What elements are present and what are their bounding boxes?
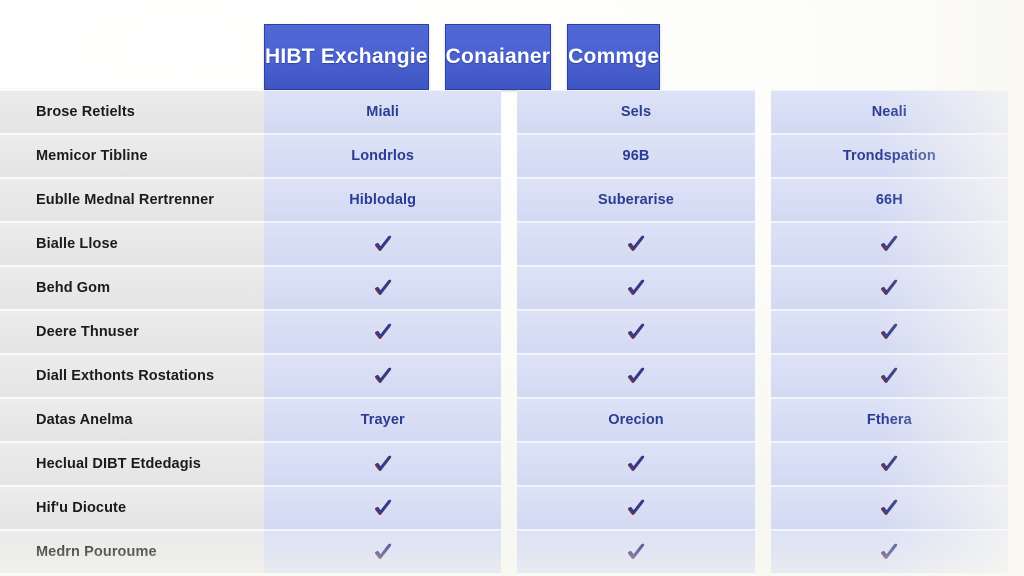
cell-value: 96B bbox=[517, 134, 754, 178]
cell-supported bbox=[264, 222, 501, 266]
cell-value: Sels bbox=[517, 90, 754, 134]
cell-value: Neali bbox=[771, 90, 1008, 134]
checkmark-icon bbox=[372, 321, 394, 343]
table-row: Bialle Llose bbox=[0, 222, 1024, 266]
checkmark-icon bbox=[625, 497, 647, 519]
table-row: Memicor TiblineLondrlos96BTrondspation bbox=[0, 134, 1024, 178]
column-header-c3[interactable]: Commge bbox=[567, 24, 660, 90]
table-row: Brose RetieltsMialiSelsNeali bbox=[0, 90, 1024, 134]
feature-label: Deere Thnuser bbox=[0, 310, 264, 354]
cell-supported bbox=[264, 530, 501, 574]
checkmark-icon bbox=[878, 277, 900, 299]
cell-value: Miali bbox=[264, 90, 501, 134]
checkmark-icon bbox=[625, 541, 647, 563]
checkmark-icon bbox=[878, 541, 900, 563]
feature-label: Datas Anelma bbox=[0, 398, 264, 442]
cell-value: Fthera bbox=[771, 398, 1008, 442]
checkmark-icon bbox=[878, 233, 900, 255]
feature-comparison-table: HIBT ExchangieConaianerCommgeBrose Retie… bbox=[0, 0, 1024, 574]
cell-value: Orecion bbox=[517, 398, 754, 442]
table-row: Behd Gom bbox=[0, 266, 1024, 310]
checkmark-icon bbox=[372, 233, 394, 255]
cell-supported bbox=[517, 486, 754, 530]
cell-supported bbox=[517, 530, 754, 574]
feature-label: Hif'u Diocute bbox=[0, 486, 264, 530]
cell-supported bbox=[771, 530, 1008, 574]
cell-value: Suberarise bbox=[517, 178, 754, 222]
feature-label: Diall Exthonts Rostations bbox=[0, 354, 264, 398]
feature-label: Eublle Mednal Rertrenner bbox=[0, 178, 264, 222]
checkmark-icon bbox=[625, 233, 647, 255]
cell-value: Trondspation bbox=[771, 134, 1008, 178]
cell-value: 66H bbox=[771, 178, 1008, 222]
cell-value: Hiblodalg bbox=[264, 178, 501, 222]
column-header-c2[interactable]: Conaianer bbox=[445, 24, 552, 90]
feature-label: Brose Retielts bbox=[0, 90, 264, 134]
checkmark-icon bbox=[372, 541, 394, 563]
cell-supported bbox=[264, 310, 501, 354]
checkmark-icon bbox=[878, 453, 900, 475]
table-row: Medrn Pouroume bbox=[0, 530, 1024, 574]
cell-supported bbox=[771, 310, 1008, 354]
checkmark-icon bbox=[625, 365, 647, 387]
checkmark-icon bbox=[878, 321, 900, 343]
cell-supported bbox=[771, 222, 1008, 266]
checkmark-icon bbox=[372, 365, 394, 387]
cell-supported bbox=[771, 442, 1008, 486]
checkmark-icon bbox=[625, 453, 647, 475]
checkmark-icon bbox=[372, 497, 394, 519]
column-header-c1[interactable]: HIBT Exchangie bbox=[264, 24, 429, 90]
checkmark-icon bbox=[372, 277, 394, 299]
cell-supported bbox=[771, 486, 1008, 530]
feature-label: Bialle Llose bbox=[0, 222, 264, 266]
feature-label: Heclual DIBT Etdedagis bbox=[0, 442, 264, 486]
cell-supported bbox=[771, 266, 1008, 310]
table-header-row: HIBT ExchangieConaianerCommge bbox=[0, 0, 1024, 90]
feature-label: Memicor Tibline bbox=[0, 134, 264, 178]
table-row: Eublle Mednal RertrennerHiblodalgSuberar… bbox=[0, 178, 1024, 222]
cell-supported bbox=[264, 486, 501, 530]
table-row: Heclual DIBT Etdedagis bbox=[0, 442, 1024, 486]
cell-supported bbox=[517, 266, 754, 310]
comparison-table-page: HIBT ExchangieConaianerCommgeBrose Retie… bbox=[0, 0, 1024, 576]
cell-supported bbox=[264, 266, 501, 310]
feature-label: Medrn Pouroume bbox=[0, 530, 264, 574]
checkmark-icon bbox=[625, 321, 647, 343]
table-row: Deere Thnuser bbox=[0, 310, 1024, 354]
cell-supported bbox=[264, 442, 501, 486]
cell-supported bbox=[517, 442, 754, 486]
checkmark-icon bbox=[878, 497, 900, 519]
cell-value: Trayer bbox=[264, 398, 501, 442]
cell-supported bbox=[517, 310, 754, 354]
cell-supported bbox=[264, 354, 501, 398]
table-row: Hif'u Diocute bbox=[0, 486, 1024, 530]
feature-label: Behd Gom bbox=[0, 266, 264, 310]
cell-supported bbox=[771, 354, 1008, 398]
checkmark-icon bbox=[878, 365, 900, 387]
checkmark-icon bbox=[625, 277, 647, 299]
checkmark-icon bbox=[372, 453, 394, 475]
table-row: Diall Exthonts Rostations bbox=[0, 354, 1024, 398]
cell-value: Londrlos bbox=[264, 134, 501, 178]
cell-supported bbox=[517, 354, 754, 398]
cell-supported bbox=[517, 222, 754, 266]
table-row: Datas AnelmaTrayerOrecionFthera bbox=[0, 398, 1024, 442]
